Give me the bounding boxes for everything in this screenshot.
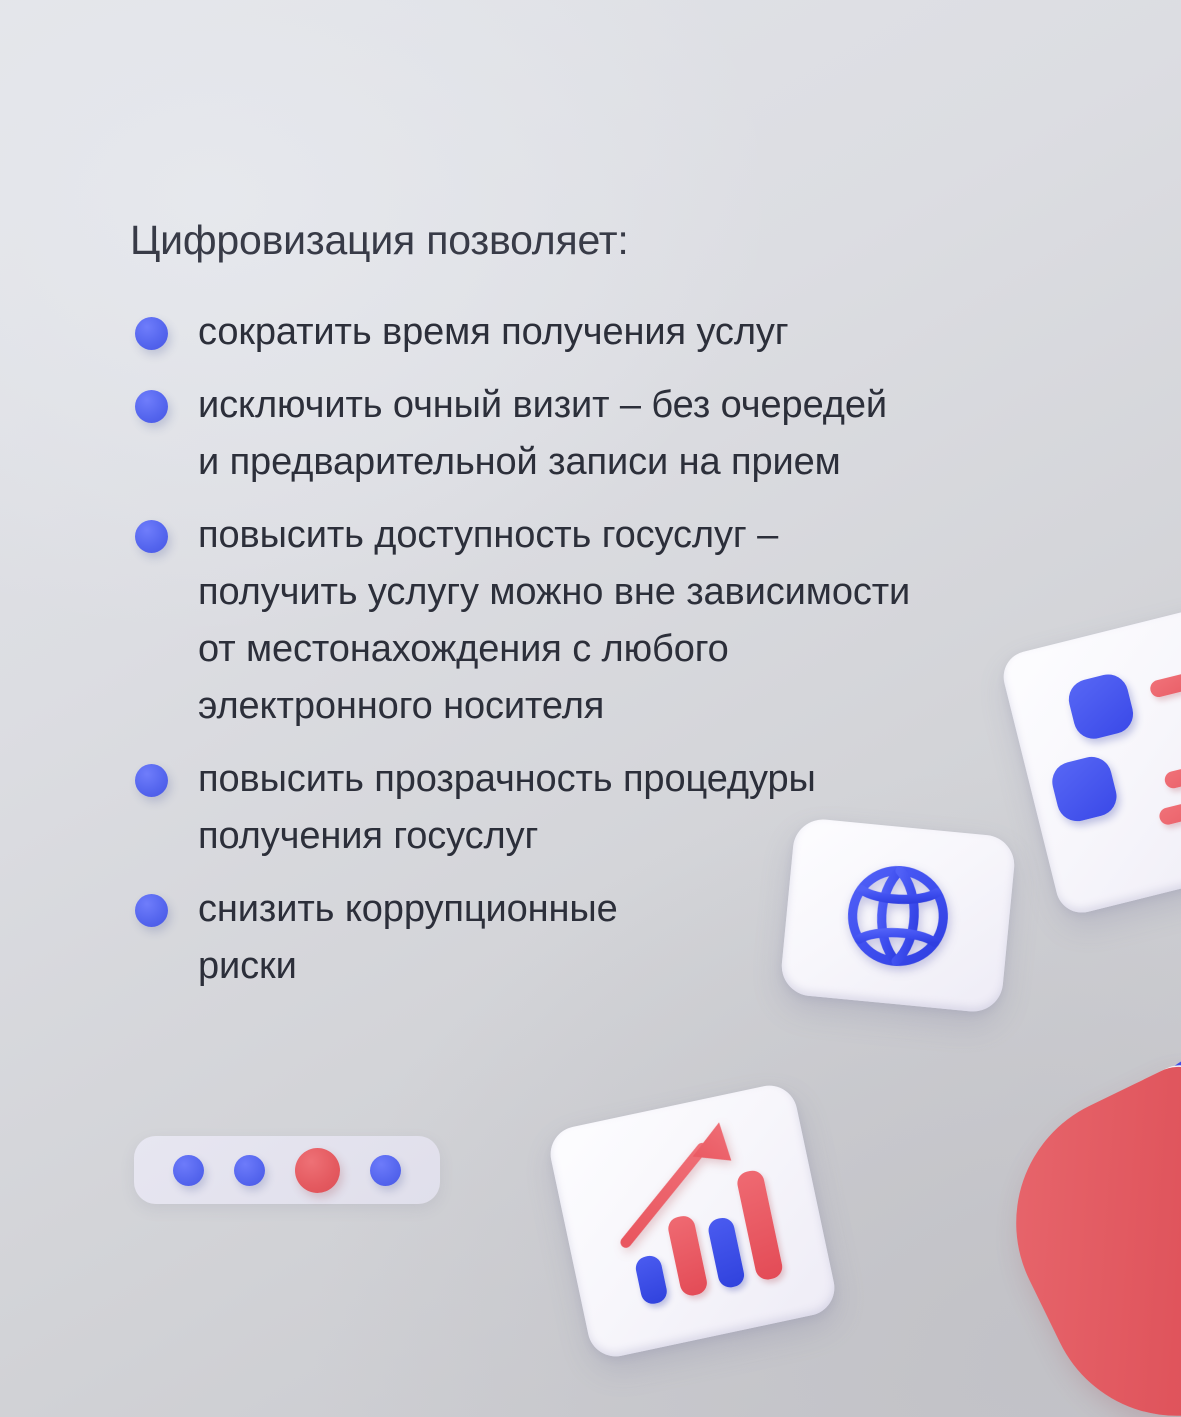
growth-chart-icon bbox=[545, 1080, 839, 1361]
list-item-label: повысить доступность госуслуг – получить… bbox=[198, 507, 1130, 735]
tricolor-red-band bbox=[972, 1053, 1181, 1417]
bullet-dot-icon bbox=[135, 894, 168, 927]
tricolor-ribbon-icon bbox=[972, 1018, 1181, 1417]
bullet-dot-icon bbox=[135, 317, 168, 350]
globe-icon-card bbox=[779, 817, 1017, 1014]
pagination-dot-3-active[interactable] bbox=[295, 1148, 340, 1193]
checklist-line-3 bbox=[1158, 781, 1181, 826]
list-item: сократить время получения услуг bbox=[130, 304, 1130, 361]
bullet-dot-icon bbox=[135, 764, 168, 797]
checklist-square-1 bbox=[1065, 670, 1138, 743]
list-item: исключить очный визит – без очередей и п… bbox=[130, 377, 1130, 491]
list-item: повысить доступность госуслуг – получить… bbox=[130, 507, 1130, 735]
pagination-indicator[interactable] bbox=[134, 1136, 440, 1204]
pagination-dot-1[interactable] bbox=[173, 1155, 204, 1186]
checklist-line-1 bbox=[1149, 659, 1181, 699]
pagination-dot-2[interactable] bbox=[234, 1155, 265, 1186]
tricolor-blue-band bbox=[1123, 1015, 1181, 1386]
growth-chart-icon-card bbox=[545, 1080, 839, 1361]
checklist-square-2 bbox=[1048, 753, 1121, 826]
list-item-label: исключить очный визит – без очередей и п… bbox=[198, 377, 1130, 491]
list-item-label: сократить время получения услуг bbox=[198, 304, 1130, 361]
pagination-dot-4[interactable] bbox=[370, 1155, 401, 1186]
tricolor-white-band bbox=[1086, 1055, 1181, 1404]
globe-icon bbox=[842, 859, 955, 972]
bullet-dot-icon bbox=[135, 390, 168, 423]
bullet-dot-icon bbox=[135, 520, 168, 553]
slide-canvas: Цифровизация позволяет: сократить время … bbox=[0, 0, 1181, 1417]
page-title: Цифровизация позволяет: bbox=[130, 214, 1130, 266]
checklist-line-2 bbox=[1163, 748, 1181, 790]
